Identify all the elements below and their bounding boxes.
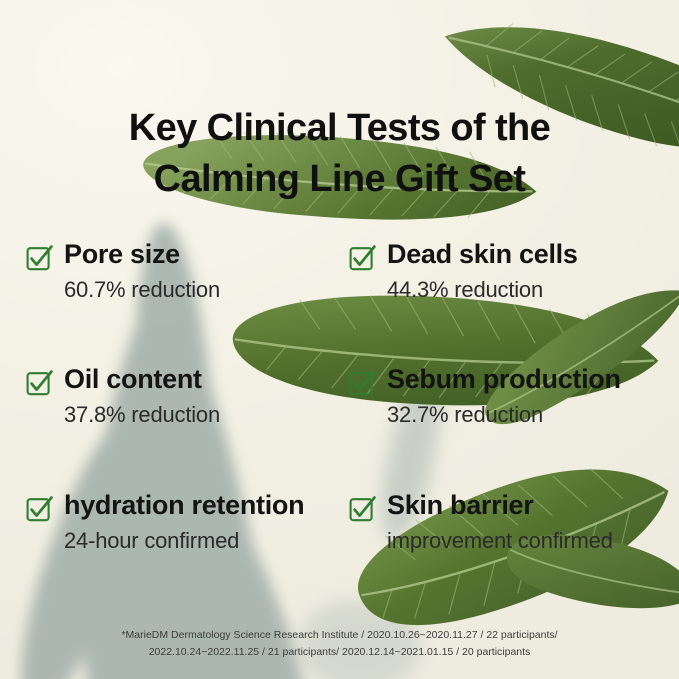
result-item-dead-skin-cells: Dead skin cells 44.3% reduction bbox=[340, 240, 679, 302]
result-item-sebum-production: Sebum production 32.7% reduction bbox=[340, 365, 679, 427]
title-line-2: Calming Line Gift Set bbox=[58, 154, 621, 205]
marketing-poster: Key Clinical Tests of the Calming Line G… bbox=[0, 0, 679, 679]
check-square-icon bbox=[349, 370, 376, 397]
result-heading: Skin barrier bbox=[349, 491, 679, 523]
result-heading: Oil content bbox=[26, 365, 340, 397]
footnote-line-1: *MarieDM Dermatology Science Research In… bbox=[26, 627, 653, 644]
result-item-oil-content: Oil content 37.8% reduction bbox=[0, 365, 340, 427]
check-square-icon bbox=[26, 496, 53, 523]
result-item-skin-barrier: Skin barrier improvement confirmed bbox=[340, 491, 679, 553]
check-square-icon bbox=[26, 370, 53, 397]
footnote: *MarieDM Dermatology Science Research In… bbox=[0, 627, 679, 661]
check-square-icon bbox=[26, 245, 53, 272]
result-heading: Dead skin cells bbox=[349, 240, 679, 272]
poster-content: Key Clinical Tests of the Calming Line G… bbox=[0, 0, 679, 679]
result-value: 32.7% reduction bbox=[387, 402, 679, 427]
result-value: improvement confirmed bbox=[387, 528, 679, 553]
result-item-hydration-retention: hydration retention 24-hour confirmed bbox=[0, 491, 340, 553]
result-value: 24-hour confirmed bbox=[64, 528, 340, 553]
result-label: Dead skin cells bbox=[387, 240, 578, 269]
result-heading: hydration retention bbox=[26, 491, 340, 523]
result-label: Sebum production bbox=[387, 365, 621, 394]
result-label: Skin barrier bbox=[387, 491, 533, 520]
footnote-line-2: 2022.10.24~2022.11.25 / 21 participants/… bbox=[26, 644, 653, 661]
check-square-icon bbox=[349, 496, 376, 523]
check-square-icon bbox=[349, 245, 376, 272]
result-label: hydration retention bbox=[64, 491, 304, 520]
result-item-pore-size: Pore size 60.7% reduction bbox=[0, 240, 340, 302]
title-line-1: Key Clinical Tests of the bbox=[129, 107, 550, 149]
result-label: Pore size bbox=[64, 240, 180, 269]
page-title: Key Clinical Tests of the Calming Line G… bbox=[0, 103, 679, 205]
result-value: 44.3% reduction bbox=[387, 277, 679, 302]
result-heading: Sebum production bbox=[349, 365, 679, 397]
result-value: 37.8% reduction bbox=[64, 402, 340, 427]
result-heading: Pore size bbox=[26, 240, 340, 272]
result-value: 60.7% reduction bbox=[64, 277, 340, 302]
result-label: Oil content bbox=[64, 365, 202, 394]
clinical-results-grid: Pore size 60.7% reduction Dead skin cell… bbox=[0, 240, 679, 553]
